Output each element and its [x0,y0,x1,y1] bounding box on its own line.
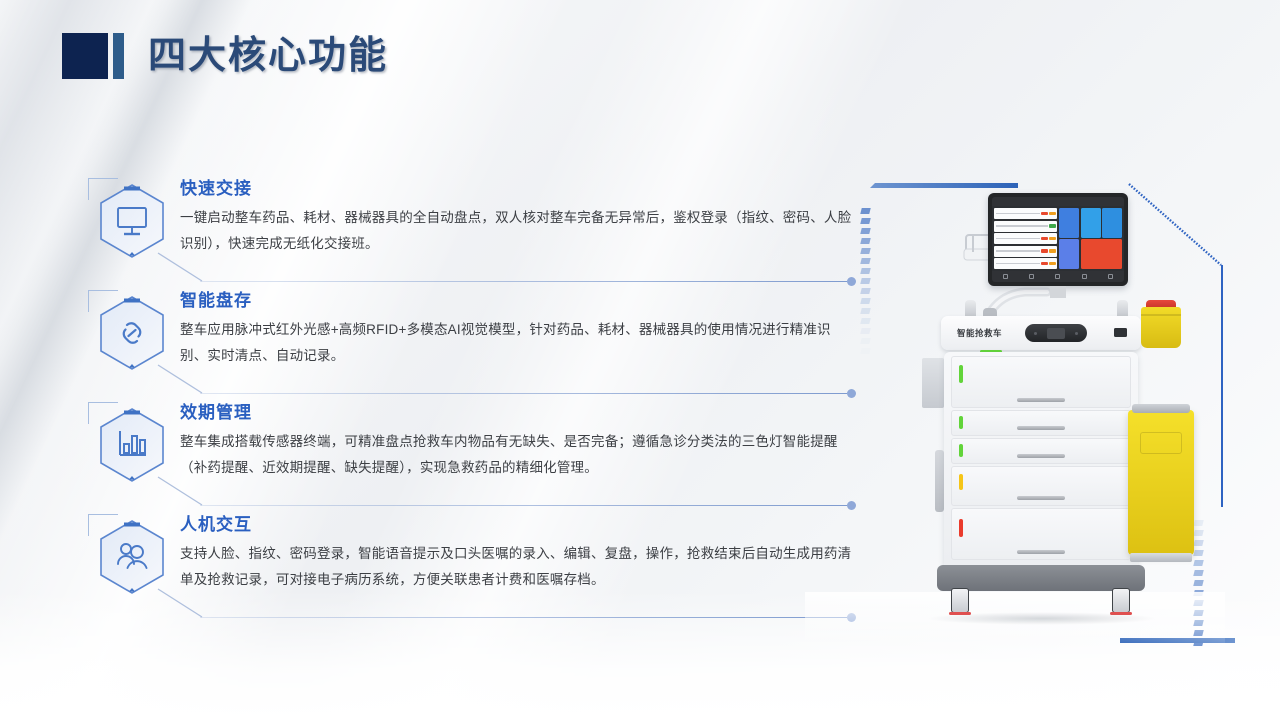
page-title: 四大核心功能 [148,37,388,75]
users-icon [96,518,168,596]
header-bar-marker [113,33,124,79]
feature-underline [156,613,856,622]
link-icon [96,294,168,372]
bar-chart-icon [96,406,168,484]
emergency-cart-image: 智能抢救车 [845,160,1145,630]
feature-text: 人机交互 支持人脸、指纹、密码登录，智能语音提示及口头医嘱的录入、编辑、复盘，操… [180,514,856,593]
underline-diagonal [156,363,206,395]
feature-title: 效期管理 [180,402,856,424]
screen-item-list[interactable] [994,208,1057,269]
screen-tile-alert[interactable] [1081,239,1123,269]
drawer-led-green [959,365,963,383]
feature-underline [156,389,856,398]
cart-camera-module [1025,324,1087,342]
underline-diagonal [156,475,206,507]
waste-bin-foot [1130,553,1192,562]
underline-line [200,505,847,506]
feature-text: 智能盘存 整车应用脉冲式红外光感+高频RFID+多模态AI视觉模型，针对药品、耗… [180,290,856,369]
screen-toolbar[interactable] [992,271,1124,282]
toolbar-icon[interactable] [1029,274,1034,279]
feature-text: 快速交接 一键启动整车药品、耗材、器械器具的全自动盘点，双人核对整车完备无异常后… [180,178,856,257]
feature-description: 一键启动整车药品、耗材、器械器具的全自动盘点，双人核对整车完备无异常后，鉴权登录… [180,205,856,257]
deco-vertical-line-right [1221,265,1223,507]
feature-item[interactable]: 效期管理 整车集成搭载传感器终端，可精准盘点抢救车内物品有无缺失、是否完备；遵循… [96,402,856,514]
screen-tiles[interactable] [1059,208,1122,269]
feature-item[interactable]: 人机交互 支持人脸、指纹、密码登录，智能语音提示及口头医嘱的录入、编辑、复盘，操… [96,514,856,626]
feature-underline [156,277,856,286]
cart-drawer[interactable] [951,508,1131,560]
feature-icon-hexagon [96,182,168,260]
screen-body [992,206,1124,271]
monitor-stand [1050,286,1066,298]
feature-description: 整车集成搭载传感器终端，可精准盘点抢救车内物品有无缺失、是否完备；遵循急诊分类法… [180,429,856,481]
drawer-handle[interactable] [1017,550,1065,554]
feature-title: 快速交接 [180,178,856,200]
feature-item[interactable]: 智能盘存 整车应用脉冲式红外光感+高频RFID+多模态AI视觉模型，针对药品、耗… [96,290,856,402]
underline-line [200,281,847,282]
screen-tile[interactable] [1102,208,1122,238]
sharps-band [1141,314,1181,316]
list-item[interactable] [994,208,1057,219]
toolbar-icon[interactable] [1055,274,1060,279]
cart-side-panel [922,358,944,408]
feature-title: 智能盘存 [180,290,856,312]
page-header: 四大核心功能 [62,30,388,82]
list-item[interactable] [994,246,1057,257]
feature-text: 效期管理 整车集成搭载传感器终端，可精准盘点抢救车内物品有无缺失、是否完备；遵循… [180,402,856,481]
drawer-led-red [959,519,963,537]
waste-bin-slot [1140,432,1182,454]
feature-icon-hexagon [96,406,168,484]
underline-diagonal [156,587,206,619]
underline-diagonal [156,251,206,283]
screen-tile[interactable] [1081,208,1101,238]
toolbar-icon[interactable] [1108,274,1113,279]
product-visual: 智能抢救车 [845,160,1280,660]
drawer-led-yellow [959,474,963,490]
list-item[interactable] [994,233,1057,244]
screen-tile[interactable] [1059,208,1079,238]
feature-underline [156,501,856,510]
screen-tile[interactable] [1059,239,1079,269]
cart-drawer[interactable] [951,410,1131,436]
drawer-handle[interactable] [1017,426,1065,430]
toolbar-icon[interactable] [1082,274,1087,279]
feature-description: 整车应用脉冲式红外光感+高频RFID+多模态AI视觉模型，针对药品、耗材、器械器… [180,317,856,369]
camera-sensor-right [1075,332,1078,335]
feature-description: 支持人脸、指纹、密码登录，智能语音提示及口头医嘱的录入、编辑、复盘，操作，抢救结… [180,541,856,593]
drawer-handle[interactable] [1017,454,1065,458]
cart-drawer[interactable] [951,356,1131,408]
monitor-icon [96,182,168,260]
toolbar-icon[interactable] [1003,274,1008,279]
cart-indicator-button[interactable] [1114,328,1127,337]
cart-side-rail [935,450,944,512]
feature-title: 人机交互 [180,514,856,536]
feature-item[interactable]: 快速交接 一键启动整车药品、耗材、器械器具的全自动盘点，双人核对整车完备无异常后… [96,178,856,290]
cart-drawer[interactable] [951,466,1131,506]
cart-brand-label: 智能抢救车 [957,327,1002,339]
feature-icon-hexagon [96,294,168,372]
feature-list: 快速交接 一键启动整车药品、耗材、器械器具的全自动盘点，双人核对整车完备无异常后… [96,178,856,626]
feature-icon-hexagon [96,518,168,596]
monitor-screen[interactable] [992,197,1124,282]
cart-monitor[interactable] [988,193,1128,286]
cart-drawer[interactable] [951,438,1131,464]
header-square-marker [62,33,108,79]
drawer-led-green [959,416,963,429]
waste-bin-cap [1132,404,1190,413]
list-item[interactable] [994,258,1057,269]
camera-sensor-left [1034,332,1037,335]
screen-statusbar [992,197,1124,206]
drawer-handle[interactable] [1017,496,1065,500]
cart-top-console: 智能抢救车 [941,316,1141,350]
drawer-led-green [959,444,963,457]
camera-lens [1047,328,1065,339]
cart-drawer-stack [944,352,1138,567]
sharps-container-small [1141,300,1181,348]
waste-bin-large [1128,410,1194,555]
underline-line [200,617,847,618]
list-item[interactable] [994,221,1057,232]
underline-line [200,393,847,394]
drawer-handle[interactable] [1017,398,1065,402]
cart-shadow [927,612,1157,625]
